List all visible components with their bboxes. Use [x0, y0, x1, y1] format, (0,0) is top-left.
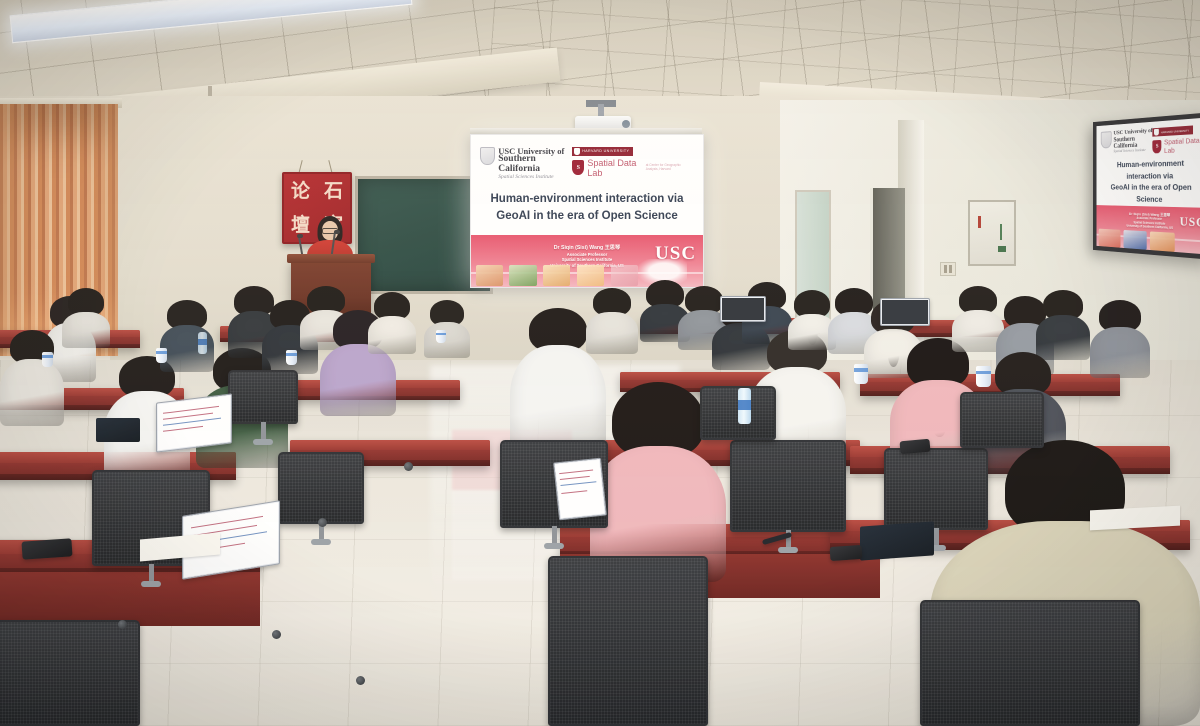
wall-outlet — [940, 262, 956, 276]
audience-member-torso — [1090, 327, 1150, 378]
slide-title-line1: Human-environment interaction via — [491, 191, 684, 208]
smartphone[interactable] — [21, 538, 72, 559]
chair-castor — [272, 630, 281, 639]
tv-illustration-icon — [1123, 230, 1146, 249]
audience-member — [586, 288, 638, 354]
chair-castor — [356, 676, 365, 685]
usc-logo-line2: Southern California — [498, 155, 572, 174]
tv-harvard-bar: HARVARD UNIVERSITY — [1153, 125, 1193, 136]
audience-member — [0, 330, 64, 426]
audience-member-torso — [62, 312, 110, 348]
usc-logo: USC University of Southern California Sp… — [480, 147, 572, 181]
harvard-shield-icon — [574, 148, 580, 155]
tv-slide-illustrations — [1099, 224, 1175, 251]
tv-harvard-sdl-logo: HARVARD UNIVERSITY S Spatial Data Lab — [1153, 125, 1200, 156]
paper-cup[interactable] — [854, 364, 868, 384]
audience-member — [368, 292, 416, 354]
audience-member-torso — [368, 316, 416, 354]
audience-member — [62, 288, 110, 348]
tv-title-line1: Human-environment interaction via — [1103, 157, 1200, 182]
paper-cup[interactable] — [436, 330, 446, 343]
tablet[interactable] — [553, 458, 607, 521]
office-chair[interactable] — [0, 620, 140, 726]
paper-cup[interactable] — [42, 352, 53, 367]
tv-sdl-shield-icon: S — [1153, 140, 1162, 153]
slide-illustrations — [476, 260, 638, 287]
podium-top — [287, 254, 375, 263]
office-chair[interactable] — [228, 370, 298, 424]
laptop[interactable] — [720, 296, 766, 322]
sdl-shield-icon: S — [572, 160, 584, 175]
slide-title: Human-environment interaction via GeoAI … — [471, 180, 703, 235]
sprinkler-icon — [208, 86, 212, 96]
paper-cup[interactable] — [976, 366, 991, 387]
plaque-char: 论 — [284, 174, 317, 208]
desk-front-panel — [0, 572, 260, 626]
smartphone[interactable] — [899, 439, 930, 455]
illustration-city-icon — [543, 265, 570, 286]
chair-castor — [118, 620, 127, 629]
slide-header: USC University of Southern California Sp… — [471, 135, 703, 180]
harvard-label: HARVARD UNIVERSITY — [582, 149, 629, 153]
paper-cup[interactable] — [286, 350, 297, 365]
illustration-building-icon — [476, 265, 503, 286]
presenter-name: Dr Siqin (Sisi) Wang 王思琴 — [554, 245, 620, 252]
chair-castor — [404, 462, 413, 471]
microphone-head-icon — [334, 230, 340, 234]
tv-sdl-logo: S Spatial Data Lab — [1153, 136, 1200, 156]
laptop[interactable] — [156, 393, 232, 452]
lecture-hall-photo: 论 石 壇 室 USC University of Southern Calif… — [0, 0, 1200, 726]
harvard-sdl-logo: HARVARD UNIVERSITY S Spatial Data Lab at… — [572, 147, 694, 178]
chair-castor — [318, 518, 327, 527]
water-bottle[interactable] — [198, 332, 207, 354]
electrical-panel — [968, 200, 1016, 266]
tv-illustration-icon — [1150, 231, 1175, 251]
paper-cup[interactable] — [156, 348, 167, 363]
office-chair[interactable] — [960, 392, 1044, 448]
audience-member-torso — [586, 312, 638, 354]
projector-lens-icon — [622, 120, 630, 128]
illustration-map-icon — [577, 265, 604, 286]
audience-member — [424, 300, 470, 358]
microphone-head-icon — [297, 234, 303, 238]
sdl-name: Spatial Data Lab — [587, 158, 642, 178]
tv-usc-wordmark: USC — [1180, 214, 1200, 231]
office-chair[interactable] — [548, 556, 708, 726]
office-chair[interactable] — [278, 452, 364, 524]
illustration-chart-icon — [611, 265, 638, 286]
tv-slide-mirror: USC University of Southern California Sp… — [1097, 117, 1200, 254]
sdl-subtitle: at Center for Geographic Analysis, Harva… — [646, 164, 694, 171]
smartphone[interactable] — [830, 545, 863, 561]
tv-usc-line3: Spatial Sciences Institute — [1114, 148, 1153, 154]
tv-usc-logo: USC University of Southern California Sp… — [1101, 128, 1153, 154]
office-chair[interactable] — [920, 600, 1140, 726]
slide-title-line2: GeoAI in the era of Open Science — [496, 208, 678, 225]
sdl-shield-letter: S — [577, 165, 580, 171]
presentation-slide: USC University of Southern California Sp… — [471, 135, 703, 287]
notebook[interactable] — [96, 418, 140, 442]
tv-slide-title: Human-environment interaction via GeoAI … — [1097, 155, 1200, 208]
water-bottle[interactable] — [738, 388, 751, 424]
plaque-char: 石 — [317, 174, 350, 208]
office-chair[interactable] — [884, 448, 988, 530]
audience-member-torso — [424, 322, 470, 358]
tv-sdl-letter: S — [1156, 144, 1159, 150]
harvard-bar: HARVARD UNIVERSITY — [572, 147, 633, 156]
tv-harvard-label: HARVARD UNIVERSITY — [1161, 128, 1189, 134]
audience-member — [1090, 300, 1150, 378]
tv-title-line2: GeoAI in the era of Open Science — [1103, 181, 1200, 206]
audience-member — [1036, 290, 1090, 360]
notebook[interactable] — [860, 521, 934, 560]
tv-usc-shield-icon — [1101, 131, 1112, 148]
audience-member-torso — [0, 359, 64, 426]
tv-slide-footer: Dr Siqin (Sisi) Wang 王思琴 Associate Profe… — [1097, 205, 1200, 254]
usc-shield-icon — [480, 147, 495, 166]
tv-harvard-shield-icon — [1154, 129, 1159, 136]
wall-mounted-display: USC University of Southern California Sp… — [1093, 112, 1200, 260]
illustration-tractor-icon — [509, 265, 536, 286]
tv-illustration-icon — [1099, 229, 1121, 248]
tv-slide-header: USC University of Southern California Sp… — [1097, 117, 1200, 158]
audience-member-torso — [320, 344, 396, 416]
office-chair[interactable] — [730, 440, 846, 532]
laptop[interactable] — [880, 298, 930, 326]
spatial-data-lab-logo: S Spatial Data Lab at Center for Geograp… — [572, 158, 694, 178]
tv-sdl-name: Spatial Data Lab — [1164, 136, 1200, 155]
projection-screen: USC University of Southern California Sp… — [470, 134, 704, 288]
